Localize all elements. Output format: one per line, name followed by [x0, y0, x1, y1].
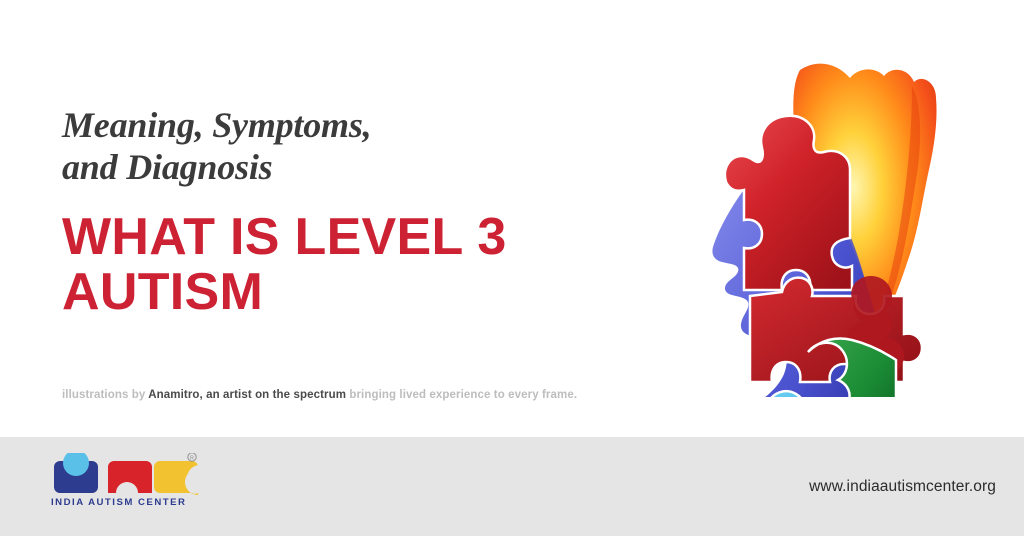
attribution-suffix: bringing lived experience to every frame… — [346, 389, 577, 401]
logo-lockup[interactable]: R INDIA AUTISM CENTER — [50, 453, 200, 515]
logo-mark: R — [50, 453, 200, 500]
hero-eyebrow: Meaning, Symptoms, and Diagnosis — [62, 104, 582, 188]
logo-wordmark: INDIA AUTISM CENTER — [51, 497, 186, 508]
registered-trademark-icon: R — [188, 453, 196, 462]
puzzle-head-illustration — [660, 52, 950, 397]
attribution-prefix: illustrations by — [62, 389, 148, 401]
logo-block-red-icon — [108, 461, 152, 493]
main-content-area: Meaning, Symptoms, and Diagnosis WHAT IS… — [0, 0, 1024, 437]
page-title: WHAT IS LEVEL 3 AUTISM — [62, 188, 582, 320]
website-url[interactable]: www.indiaautismcenter.org — [809, 478, 996, 496]
logo-block-blue-icon — [54, 453, 98, 493]
svg-text:R: R — [190, 456, 194, 462]
illustration-attribution: illustrations by Anamitro, an artist on … — [62, 389, 577, 401]
hero-text-column: Meaning, Symptoms, and Diagnosis WHAT IS… — [62, 104, 582, 320]
logo-block-yellow-icon — [154, 461, 200, 495]
footer-bar: R INDIA AUTISM CENTER www.indiaautismcen… — [0, 437, 1024, 536]
banner-root: Meaning, Symptoms, and Diagnosis WHAT IS… — [0, 0, 1024, 536]
attribution-artist-credit: Anamitro, an artist on the spectrum — [148, 389, 346, 401]
